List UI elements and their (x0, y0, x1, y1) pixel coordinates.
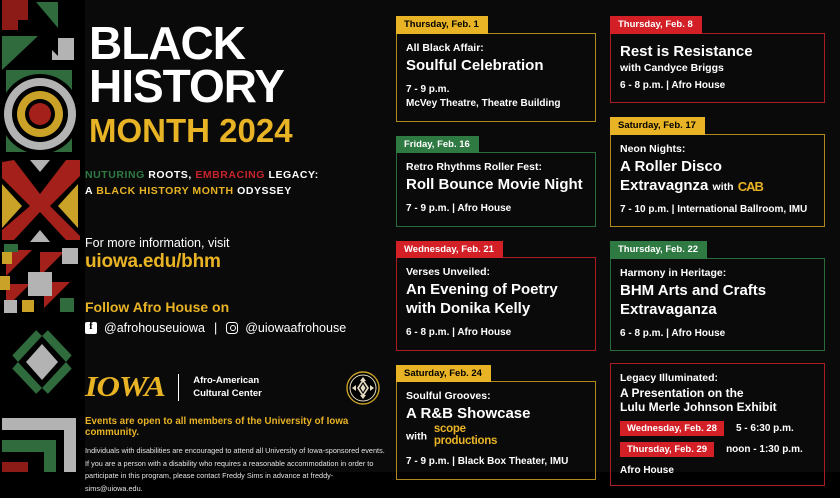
event-partner-row: with scope productions (406, 424, 586, 447)
event-date-badge: Thursday, Feb. 1 (396, 16, 488, 34)
event-body: All Black Affair: Soulful Celebration 7 … (396, 33, 596, 122)
event-card[interactable]: Saturday, Feb. 24 Soulful Grooves: A R&B… (396, 363, 596, 480)
iowa-wordmark: IOWA (85, 373, 165, 402)
event-title: Roll Bounce Movie Night (406, 176, 586, 194)
tagline-legacy: LEGACY: (268, 169, 318, 181)
tagline-a: A (85, 185, 96, 197)
event-time: noon - 1:30 p.m. (726, 444, 803, 455)
logo-divider (178, 374, 179, 401)
facebook-icon (85, 322, 97, 334)
with-label: with (713, 181, 734, 193)
event-body: Retro Rhythms Roller Fest: Roll Bounce M… (396, 152, 596, 226)
event-date-badge: Thursday, Feb. 8 (610, 16, 702, 34)
title-block: BLACK HISTORY MONTH 2024 (85, 0, 390, 150)
event-body: Neon Nights: A Roller Disco Extravagnza … (610, 134, 825, 227)
instagram-handle[interactable]: @uiowaafrohouse (245, 321, 346, 335)
event-subtitle: Neon Nights: (620, 143, 815, 157)
social-separator: | (214, 321, 217, 335)
website-url[interactable]: uiowa.edu/bhm (85, 251, 390, 273)
event-details: 7 - 9 p.m. | Black Box Theater, IMU (406, 455, 586, 470)
event-subtitle: All Black Affair: (406, 42, 586, 56)
tagline-line2: A BLACK HISTORY MONTH ODYSSEY (85, 184, 390, 200)
event-details: 6 - 8 p.m. | Afro House (406, 326, 586, 341)
fine-print-line3: participate in this program, please cont… (85, 470, 390, 496)
event-title-line2: with Donika Kelly (406, 300, 586, 318)
tagline-line1: NUTURING ROOTS, EMBRACING LEGACY: (85, 168, 390, 184)
pattern-svg (0, 0, 85, 472)
event-session-row-a: Wednesday, Feb. 28 5 - 6:30 p.m. (620, 421, 815, 436)
event-title: A Presentation on the (620, 386, 815, 400)
event-title-line2: Extravagnza with CAB (620, 177, 815, 195)
event-body: Harmony in Heritage: BHM Arts and Crafts… (610, 258, 825, 351)
event-date-badge: Saturday, Feb. 17 (610, 117, 705, 135)
event-date-badge: Thursday, Feb. 29 (620, 442, 714, 457)
facebook-handle[interactable]: @afrohouseuiowa (104, 321, 205, 335)
scope-logo-line2: productions (434, 436, 497, 448)
follow-label: Follow Afro House on (85, 299, 390, 315)
cab-logo: CAB (738, 179, 763, 195)
info-block: For more information, visit uiowa.edu/bh… (85, 236, 390, 273)
event-session-row-b: Thursday, Feb. 29 noon - 1:30 p.m. (620, 442, 815, 457)
tagline: NUTURING ROOTS, EMBRACING LEGACY: A BLAC… (85, 168, 390, 200)
event-subtitle: Retro Rhythms Roller Fest: (406, 161, 586, 175)
scope-productions-logo: scope productions (434, 424, 497, 447)
event-details: 7 - 9 p.m. | Afro House (406, 202, 586, 217)
event-title: Rest is Resistance (620, 43, 815, 61)
event-card[interactable]: Saturday, Feb. 17 Neon Nights: A Roller … (610, 115, 825, 227)
events-column-right: Thursday, Feb. 8 Rest is Resistance with… (610, 14, 825, 498)
event-date-badge: Thursday, Feb. 22 (610, 241, 707, 259)
tagline-bhm: BLACK HISTORY MONTH (96, 185, 237, 197)
event-time: 5 - 6:30 p.m. (736, 423, 794, 434)
instagram-icon (226, 322, 238, 334)
events-column-middle: Thursday, Feb. 1 All Black Affair: Soulf… (396, 14, 596, 492)
event-date-badge: Wednesday, Feb. 21 (396, 241, 503, 259)
event-venue: Afro House (620, 465, 815, 476)
event-time: 7 - 9 p.m. (406, 83, 586, 98)
page-title-line1: BLACK (89, 22, 390, 65)
event-card[interactable]: Legacy Illuminated: A Presentation on th… (610, 363, 825, 485)
info-label: For more information, visit (85, 236, 390, 250)
event-date-badge: Saturday, Feb. 24 (396, 365, 491, 383)
logo-row: IOWA Afro-American Cultural Center (85, 371, 390, 405)
afro-house-seal-icon (346, 371, 380, 405)
event-title-line2: Extravaganza (620, 301, 815, 319)
tagline-roots: ROOTS, (148, 169, 195, 181)
event-details: 6 - 8 p.m. | Afro House (620, 327, 815, 342)
tagline-nuturing: NUTURING (85, 169, 148, 181)
event-card[interactable]: Thursday, Feb. 8 Rest is Resistance with… (610, 14, 825, 103)
event-card[interactable]: Wednesday, Feb. 21 Verses Unveiled: An E… (396, 239, 596, 351)
cultural-center-name: Afro-American Cultural Center (193, 375, 262, 401)
center-name-line1: Afro-American (193, 375, 259, 386)
poster-canvas: BLACK HISTORY MONTH 2024 NUTURING ROOTS,… (0, 0, 840, 472)
event-title-line2: Lulu Merle Johnson Exhibit (620, 400, 815, 414)
event-title: A Roller Disco (620, 158, 815, 176)
tagline-odyssey: ODYSSEY (237, 185, 292, 197)
event-title: An Evening of Poetry (406, 281, 586, 299)
ndebele-pattern-strip (0, 0, 85, 472)
page-title-line2: HISTORY (89, 65, 390, 108)
event-subtitle: Legacy Illuminated: (620, 372, 815, 386)
event-card[interactable]: Thursday, Feb. 22 Harmony in Heritage: B… (610, 239, 825, 351)
event-date-badge: Friday, Feb. 16 (396, 136, 479, 154)
center-name-line2: Cultural Center (193, 388, 262, 399)
event-venue: McVey Theatre, Theatre Building (406, 97, 586, 112)
event-title: BHM Arts and Crafts (620, 282, 815, 300)
with-label: with (406, 431, 427, 443)
event-body: Verses Unveiled: An Evening of Poetry wi… (396, 257, 596, 350)
event-presenter: with Candyce Briggs (620, 62, 815, 74)
event-title: Soulful Celebration (406, 57, 586, 75)
open-to-all-note: Events are open to all members of the Un… (85, 416, 390, 438)
fine-print-line2: If you are a person with a disability wh… (85, 458, 390, 471)
social-links: @afrohouseuiowa | @uiowaafrohouse (85, 321, 390, 335)
fine-print-line1: Individuals with disabilities are encour… (85, 445, 390, 458)
event-subtitle: Soulful Grooves: (406, 390, 586, 404)
event-card[interactable]: Thursday, Feb. 1 All Black Affair: Soulf… (396, 14, 596, 122)
event-title-text: Extravagnza (620, 177, 708, 194)
event-body: Legacy Illuminated: A Presentation on th… (610, 363, 825, 485)
tagline-embracing: EMBRACING (195, 169, 268, 181)
page-title-line3: MONTH 2024 (89, 112, 390, 150)
event-title: A R&B Showcase (406, 405, 586, 423)
scope-logo-line1: scope (434, 424, 497, 436)
event-card[interactable]: Friday, Feb. 16 Retro Rhythms Roller Fes… (396, 134, 596, 227)
event-details: 7 - 9 p.m. McVey Theatre, Theatre Buildi… (406, 83, 586, 112)
event-body: Rest is Resistance with Candyce Briggs 6… (610, 33, 825, 104)
event-details: 7 - 10 p.m. | International Ballroom, IM… (620, 203, 815, 218)
event-details: 6 - 8 p.m. | Afro House (620, 79, 815, 94)
event-body: Soulful Grooves: A R&B Showcase with sco… (396, 381, 596, 479)
event-subtitle: Harmony in Heritage: (620, 267, 815, 281)
event-subtitle: Verses Unveiled: (406, 266, 586, 280)
left-content-column: BLACK HISTORY MONTH 2024 NUTURING ROOTS,… (85, 0, 390, 472)
event-date-badge: Wednesday, Feb. 28 (620, 421, 724, 436)
accessibility-fine-print: Individuals with disabilities are encour… (85, 445, 390, 496)
